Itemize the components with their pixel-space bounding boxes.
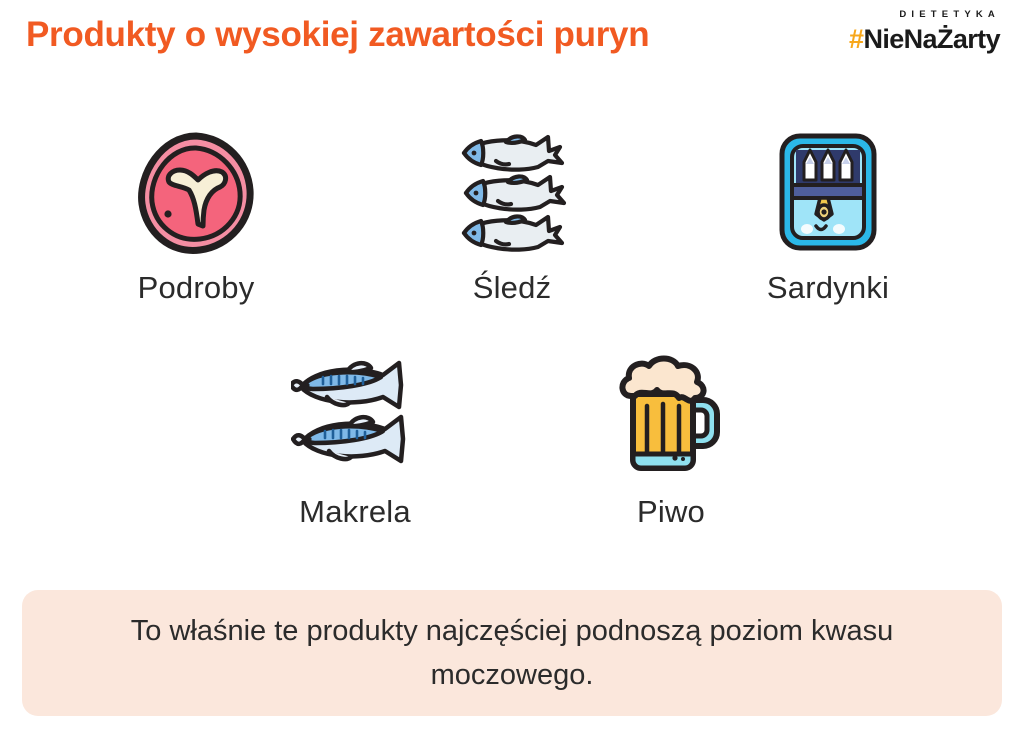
icon-grid-row-1: Podroby [0, 128, 1024, 306]
item-makrela[interactable]: Makrela [255, 352, 455, 530]
item-piwo[interactable]: Piwo [571, 352, 771, 530]
page-title: Produkty o wysokiej zawartości puryn [26, 14, 686, 57]
item-label: Piwo [637, 494, 705, 530]
item-podroby[interactable]: Podroby [96, 128, 296, 306]
offal-steak-icon [134, 128, 258, 256]
brand-kicker: DIETETYKA [849, 10, 1000, 20]
infographic-slide: Produkty o wysokiej zawartości puryn DIE… [0, 0, 1024, 738]
brand-logo: DIETETYKA #NieNaŻarty [849, 10, 1000, 54]
footer-callout: To właśnie te produkty najczęściej podno… [22, 590, 1002, 716]
item-label: Śledź [473, 270, 552, 306]
icon-grid-row-2: Makrela [0, 352, 1024, 530]
sardine-can-icon [776, 128, 880, 256]
hash-icon: # [849, 24, 863, 54]
brand-name-text: NieNaŻarty [863, 24, 1000, 54]
item-label: Makrela [299, 494, 411, 530]
footer-callout-text: To właśnie te produkty najczęściej podno… [62, 609, 962, 697]
beer-mug-icon [615, 352, 727, 480]
item-sardynki[interactable]: Sardynki [728, 128, 928, 306]
item-label: Podroby [138, 270, 255, 306]
herring-fish-icon [452, 128, 572, 256]
brand-name: #NieNaŻarty [849, 25, 1000, 54]
item-sledz[interactable]: Śledź [412, 128, 612, 306]
mackerel-fish-icon [291, 352, 419, 480]
item-label: Sardynki [767, 270, 889, 306]
